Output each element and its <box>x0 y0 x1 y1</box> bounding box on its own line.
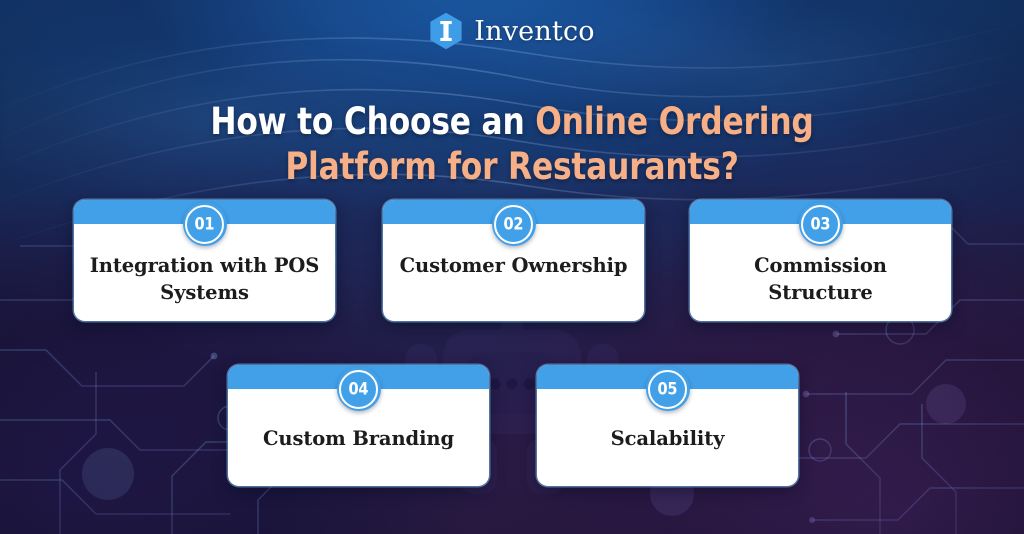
step-label: Scalability <box>547 425 788 452</box>
step-card-01[interactable]: 01 Integration with POS Systems <box>74 200 335 321</box>
step-number-badge: 05 <box>646 367 690 411</box>
title-line2-accent: Platform for Restaurants? <box>285 145 738 188</box>
step-number: 04 <box>349 381 369 398</box>
step-number-badge: 03 <box>799 202 843 246</box>
badge-ring: 01 <box>185 205 224 244</box>
title-line1-white: How to Choose an <box>210 100 535 143</box>
step-card-02[interactable]: 02 Customer Ownership <box>383 200 644 321</box>
page-title: How to Choose an Online Ordering Platfor… <box>31 99 994 189</box>
step-label: Commission Structure <box>700 252 941 306</box>
hexagon-i-icon <box>429 12 463 50</box>
step-number-badge: 04 <box>337 367 381 411</box>
step-card-03[interactable]: 03 Commission Structure <box>690 200 951 321</box>
step-number-badge: 02 <box>492 202 536 246</box>
badge-ring: 03 <box>801 205 840 244</box>
infographic-canvas: Inventco How to Choose an Online Orderin… <box>0 0 1024 534</box>
step-number: 03 <box>811 216 831 233</box>
step-card-04[interactable]: 04 Custom Branding <box>228 365 489 486</box>
badge-ring: 02 <box>494 205 533 244</box>
brand-logo: Inventco <box>0 12 1024 50</box>
step-number-badge: 01 <box>183 202 227 246</box>
content-layer: Inventco How to Choose an Online Orderin… <box>0 0 1024 534</box>
step-card-05[interactable]: 05 Scalability <box>537 365 798 486</box>
title-line1-accent: Online Ordering <box>535 100 813 143</box>
brand-name: Inventco <box>474 18 595 45</box>
step-number: 01 <box>195 216 215 233</box>
step-label: Custom Branding <box>238 425 479 452</box>
step-label: Customer Ownership <box>393 252 634 279</box>
step-number: 05 <box>658 381 678 398</box>
badge-ring: 04 <box>339 370 378 409</box>
badge-ring: 05 <box>648 370 687 409</box>
step-label: Integration with POS Systems <box>84 252 325 306</box>
step-number: 02 <box>504 216 524 233</box>
